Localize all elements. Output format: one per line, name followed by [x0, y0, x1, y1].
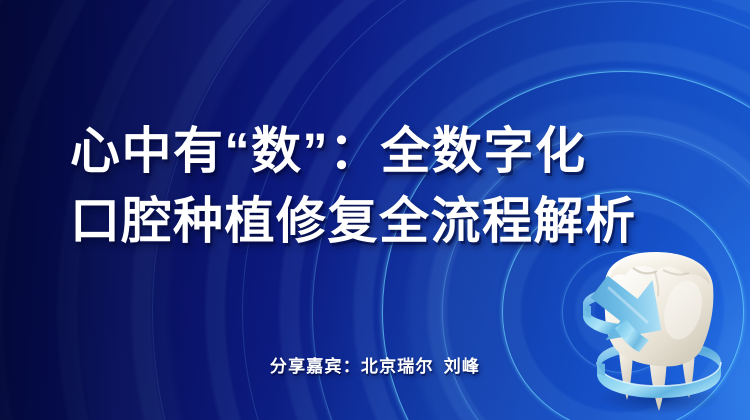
- title-line-2: 口腔种植修复全流程解析: [70, 186, 682, 256]
- speaker-name: 刘峰: [444, 357, 480, 376]
- speaker-credit: 分享嘉宾：北京瑞尔刘峰: [0, 352, 750, 377]
- speaker-credit-label: 分享嘉宾：: [270, 357, 361, 376]
- tooth-with-spiral-arrow-icon: [575, 248, 740, 420]
- title-slide: 心中有“数”：全数字化 口腔种植修复全流程解析 分享嘉宾：北京瑞尔刘峰: [0, 0, 750, 420]
- page-title: 心中有“数”：全数字化 口腔种植修复全流程解析: [70, 116, 682, 256]
- ribbon-upper-left-edge: [583, 304, 591, 318]
- title-line-1: 心中有“数”：全数字化: [70, 116, 682, 186]
- speaker-organization: 北京瑞尔: [361, 357, 434, 376]
